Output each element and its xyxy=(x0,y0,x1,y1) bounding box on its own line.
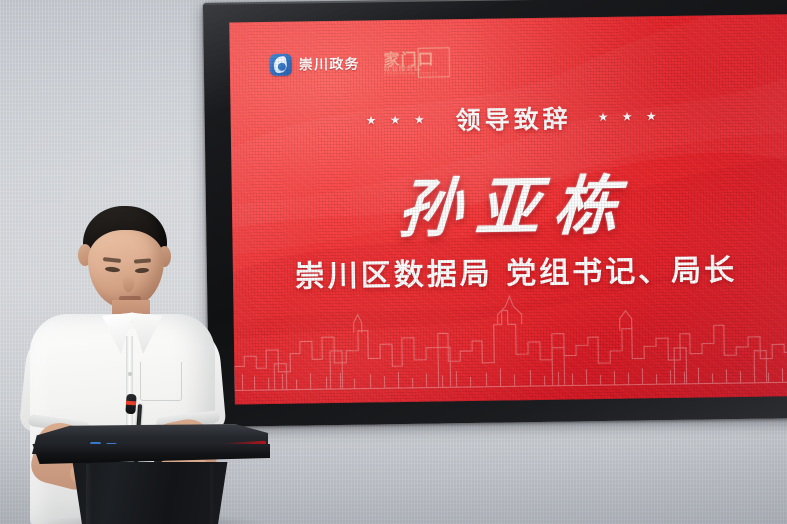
heading-title: 领导致辞 xyxy=(455,99,572,137)
stars-left-icon: ★ ★ ★ xyxy=(366,114,430,127)
person-nose xyxy=(123,275,134,292)
gov-logo-label: 崇川政务 xyxy=(299,54,360,75)
gov-logo: 崇川政务 xyxy=(270,53,360,76)
stars-right-icon: ★ ★ ★ xyxy=(598,110,662,123)
service-station-logo-icon: 家门口 就业服务站 CHONGCHUAN DISTRICT xyxy=(383,45,449,80)
chongchuan-government-logo-icon xyxy=(270,54,292,76)
city-skyline-silhouette xyxy=(233,286,787,404)
display-panel: 崇川政务 家门口 就业服务站 CHONGCHUAN DISTRICT ★ ★ ★… xyxy=(229,14,787,404)
speaker-position: 崇川区数据局 党组书记、局长 xyxy=(233,244,787,296)
station-logo-tiny: CHONGCHUAN DISTRICT xyxy=(384,71,438,76)
podium-front-lip xyxy=(30,444,270,464)
microphone-indicator xyxy=(126,401,136,406)
slide-logo-row: 崇川政务 家门口 就业服务站 CHONGCHUAN DISTRICT xyxy=(270,45,450,82)
podium-lectern xyxy=(24,418,274,524)
shirt-pocket xyxy=(140,362,182,401)
speaker-name: 孙亚栋 xyxy=(229,152,787,252)
presentation-scene: 崇川政务 家门口 就业服务站 CHONGCHUAN DISTRICT ★ ★ ★… xyxy=(0,0,787,524)
led-display[interactable]: 崇川政务 家门口 就业服务站 CHONGCHUAN DISTRICT ★ ★ ★… xyxy=(203,0,787,427)
shirt-button xyxy=(128,372,132,376)
podium-groove-right xyxy=(210,464,215,524)
podium-groove-left xyxy=(86,464,91,524)
slide-content: 崇川政务 家门口 就业服务站 CHONGCHUAN DISTRICT ★ ★ ★… xyxy=(229,14,787,404)
slide-heading: ★ ★ ★ 领导致辞 ★ ★ ★ xyxy=(230,96,787,140)
bezel-highlight xyxy=(203,0,787,5)
